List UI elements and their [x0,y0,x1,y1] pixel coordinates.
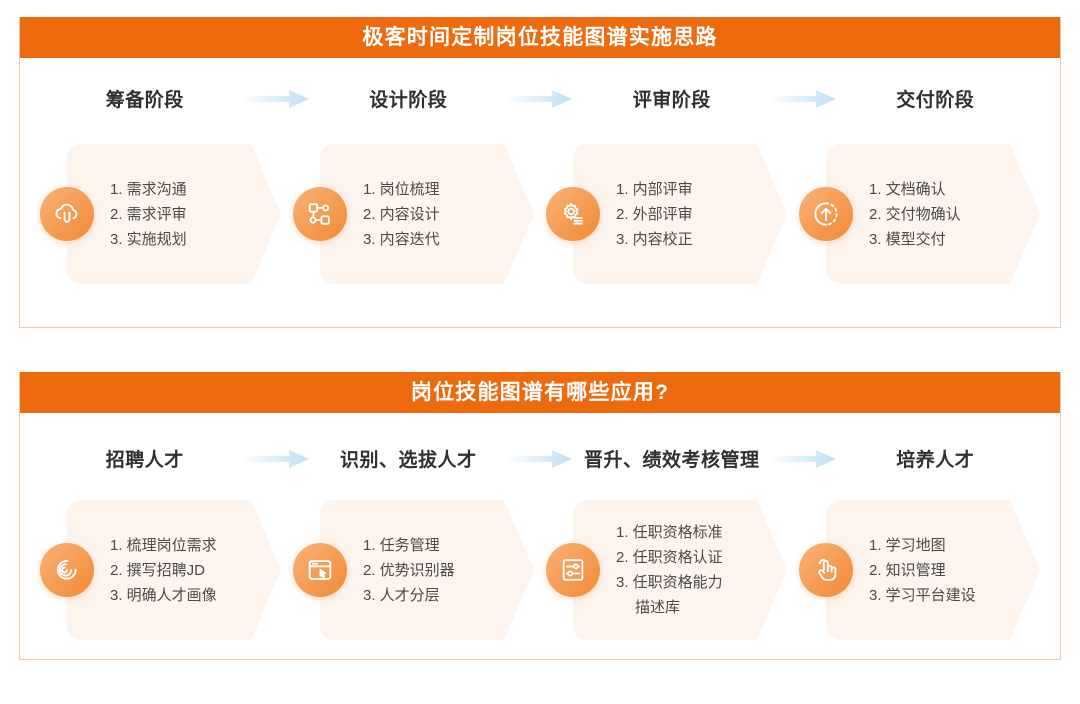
upload-arrow-circle-icon [799,187,853,241]
arrow-icon [501,89,579,109]
step-list: 1. 梳理岗位需求 2. 撰写招聘JD 3. 明确人才画像 [94,533,217,608]
step-list: 1. 需求沟通 2. 需求评审 3. 实施规划 [94,177,187,252]
card-body-2: 招聘人才 识别、选拔人才 晋升、绩效考核管理 [20,413,1060,659]
list-item: 2. 交付物确认 [869,202,961,227]
step-list: 1. 任职资格标准 2. 任职资格认证 3. 任职资格能力 描述库 [600,520,723,620]
arrow-icon [765,449,843,469]
list-item: 1. 任职资格标准 [616,520,723,545]
step-block: 1. 梳理岗位需求 2. 撰写招聘JD 3. 明确人才画像 [34,500,287,640]
browser-cursor-icon [293,543,347,597]
step-row-2: 1. 梳理岗位需求 2. 撰写招聘JD 3. 明确人才画像 [20,500,1060,640]
list-item: 3. 任职资格能力 [616,570,723,595]
list-item: 2. 需求评审 [110,202,187,227]
list-item: 1. 需求沟通 [110,177,187,202]
list-item: 3. 内容校正 [616,227,693,252]
list-item: 1. 梳理岗位需求 [110,533,217,558]
step-list: 1. 岗位梳理 2. 内容设计 3. 内容迭代 [347,177,440,252]
list-item: 1. 任务管理 [363,533,455,558]
list-item-continuation: 描述库 [616,595,723,620]
step-list: 1. 任务管理 2. 优势识别器 3. 人才分层 [347,533,455,608]
list-item: 1. 学习地图 [869,533,976,558]
gear-list-icon [546,187,600,241]
card-applications: 岗位技能图谱有哪些应用? 招聘人才 识别、选拔人才 晋升、绩效考核管理 [19,372,1061,660]
arrow-icon [238,89,316,109]
stage-label-row-1: 筹备阶段 设计阶段 [20,85,1060,112]
infographic-page: 极客时间定制岗位技能图谱实施思路 筹备阶段 设计阶段 [0,0,1080,704]
list-item: 3. 明确人才画像 [110,583,217,608]
list-item: 2. 撰写招聘JD [110,558,217,583]
step-block: 1. 岗位梳理 2. 内容设计 3. 内容迭代 [287,144,540,284]
list-item: 1. 岗位梳理 [363,177,440,202]
step-list: 1. 学习地图 2. 知识管理 3. 学习平台建设 [853,533,976,608]
step-block: 1. 文档确认 2. 交付物确认 3. 模型交付 [793,144,1046,284]
step-block: 1. 任职资格标准 2. 任职资格认证 3. 任职资格能力 描述库 [540,500,793,640]
arrow-icon [501,449,579,469]
card-body-1: 筹备阶段 设计阶段 [20,58,1060,327]
list-item: 3. 人才分层 [363,583,455,608]
spiral-target-icon [40,543,94,597]
stage-label-2-2: 识别、选拔人才 [316,445,502,472]
stage-label-1-1: 筹备阶段 [52,85,238,112]
hand-tap-icon [799,543,853,597]
list-item: 3. 内容迭代 [363,227,440,252]
list-item: 2. 知识管理 [869,558,976,583]
step-row-1: 1. 需求沟通 2. 需求评审 3. 实施规划 [20,144,1060,284]
step-block: 1. 需求沟通 2. 需求评审 3. 实施规划 [34,144,287,284]
cloud-sync-icon [40,187,94,241]
list-item: 3. 模型交付 [869,227,961,252]
stage-label-2-3: 晋升、绩效考核管理 [579,445,765,472]
stage-label-1-4: 交付阶段 [843,85,1029,112]
sliders-panel-icon [546,543,600,597]
stage-label-1-2: 设计阶段 [316,85,502,112]
step-block: 1. 学习地图 2. 知识管理 3. 学习平台建设 [793,500,1046,640]
list-item: 3. 实施规划 [110,227,187,252]
list-item: 2. 外部评审 [616,202,693,227]
step-block: 1. 任务管理 2. 优势识别器 3. 人才分层 [287,500,540,640]
list-item: 1. 文档确认 [869,177,961,202]
step-list: 1. 文档确认 2. 交付物确认 3. 模型交付 [853,177,961,252]
arrow-icon [765,89,843,109]
list-item: 2. 优势识别器 [363,558,455,583]
arrow-icon [238,449,316,469]
stage-label-2-1: 招聘人才 [52,445,238,472]
card-title-2: 岗位技能图谱有哪些应用? [20,372,1060,413]
card-implementation-approach: 极客时间定制岗位技能图谱实施思路 筹备阶段 设计阶段 [19,17,1061,328]
card-title-1: 极客时间定制岗位技能图谱实施思路 [20,17,1060,58]
list-item: 1. 内部评审 [616,177,693,202]
list-item: 2. 内容设计 [363,202,440,227]
list-item: 2. 任职资格认证 [616,545,723,570]
step-list: 1. 内部评审 2. 外部评审 3. 内容校正 [600,177,693,252]
stage-label-1-3: 评审阶段 [579,85,765,112]
stage-label-2-4: 培养人才 [843,445,1029,472]
step-block: 1. 内部评审 2. 外部评审 3. 内容校正 [540,144,793,284]
list-item: 3. 学习平台建设 [869,583,976,608]
stage-label-row-2: 招聘人才 识别、选拔人才 晋升、绩效考核管理 [20,445,1060,472]
sitemap-nodes-icon [293,187,347,241]
